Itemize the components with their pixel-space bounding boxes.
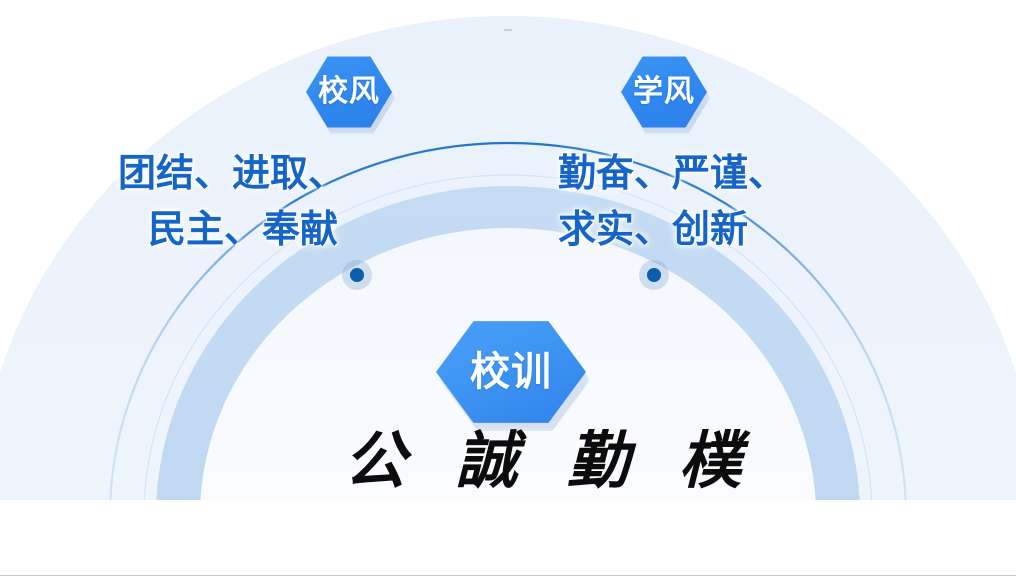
top-artifact-mark [504,29,512,31]
arc-node-right-dot [647,268,661,282]
school-motto-calligraphy: 公 誠 勤 樸 [330,430,690,492]
slide-canvas: 校风 学风 校训 团结、进取、 民主、奉献 勤奋、严谨、 求实、创新 公 誠 勤… [0,0,1016,576]
study-style-slogan-line2: 求实、创新 [558,202,902,258]
school-spirit-slogan-line1: 团结、进取、 [118,153,346,195]
school-spirit-slogan: 团结、进取、 民主、奉献 [118,146,338,258]
school-spirit-slogan-line2: 民主、奉献 [118,202,338,258]
arc-node-left-dot [350,268,364,282]
study-style-slogan-line1: 勤奋、严谨、 [558,153,786,195]
study-style-slogan: 勤奋、严谨、 求实、创新 [558,146,902,258]
